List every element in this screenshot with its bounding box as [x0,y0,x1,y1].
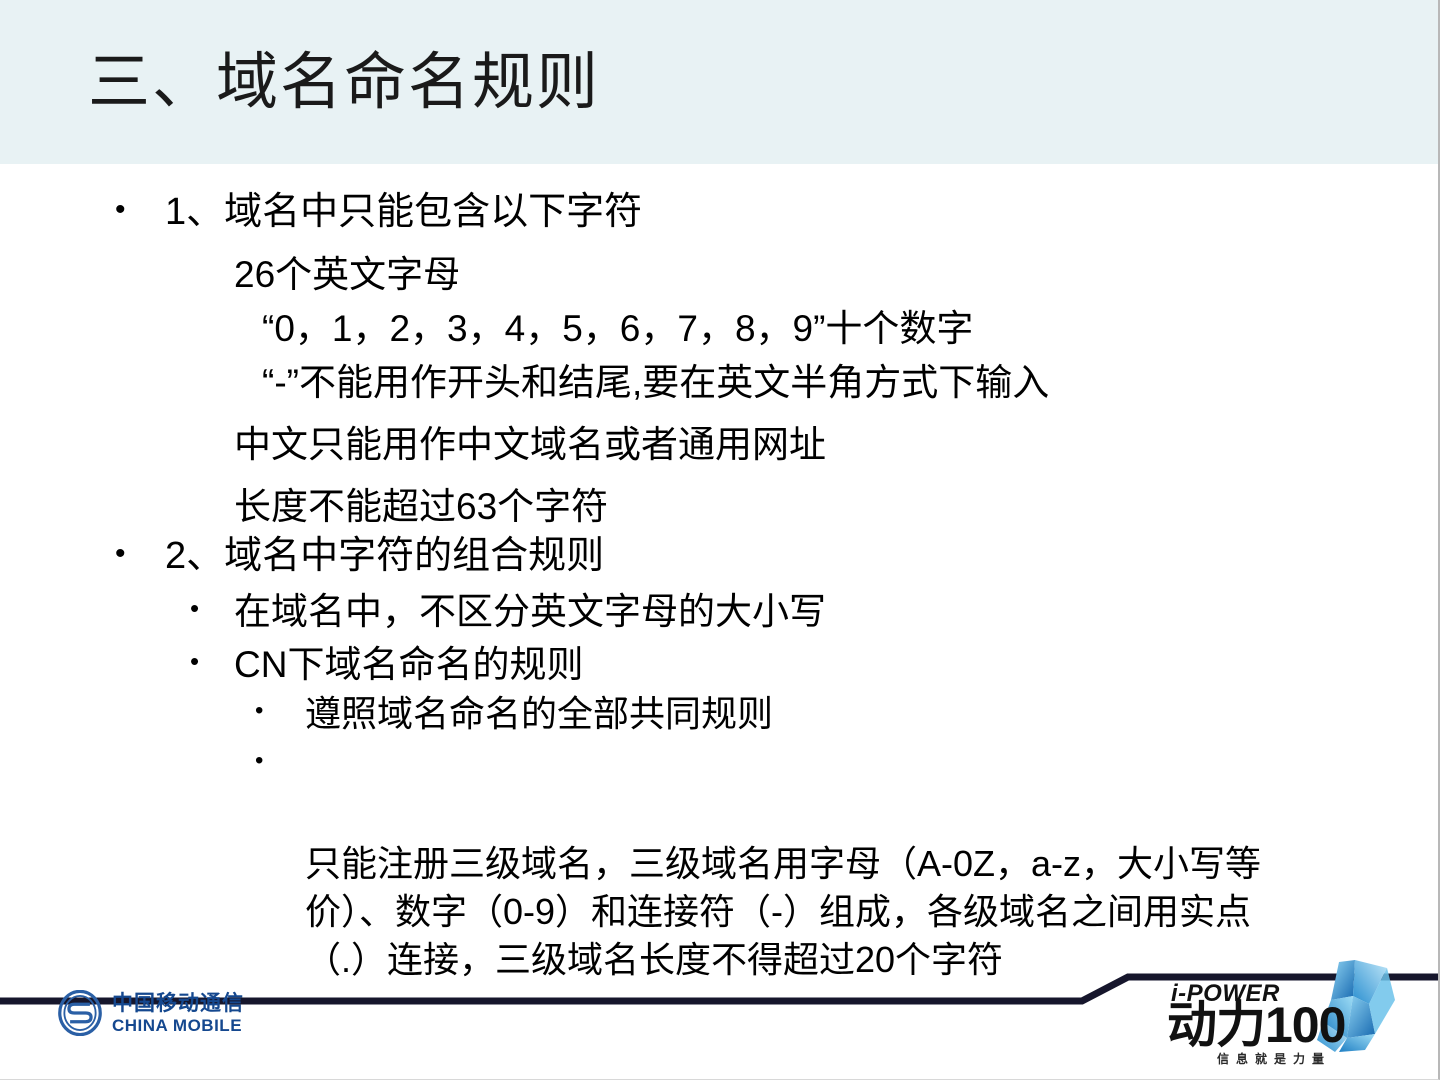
bullet-item-2-sub-2-label: CN下域名命名的规则 [234,644,583,685]
china-mobile-wordmark: 中国移动通信 CHINA MOBILE [112,993,244,1034]
bullet-item-1: • 1、域名中只能包含以下字符 [165,193,642,231]
china-mobile-emblem-icon [57,990,103,1036]
bullet-item-2-sub-sub-1-label: 遵照域名命名的全部共同规则 [305,693,773,734]
bullet-glyph: • [115,195,126,225]
bullet-item-2-sub-1-label: 在域名中，不区分英文字母的大小写 [234,591,826,632]
bullet-glyph: • [255,699,263,723]
china-mobile-en-label: CHINA MOBILE [112,1017,244,1034]
ipower-main-label: 动力100 [1167,1000,1345,1050]
bullet-item-2-sub-sub-2-label: 只能注册三级域名，三级域名用字母（A-0Z，a-z，大小写等价）、数字（0-9）… [305,843,1261,980]
bullet-glyph: • [255,749,263,773]
slide-title: 三、域名命名规则 [88,52,600,114]
sub-line-26-letters: 26个英文字母 [234,256,460,293]
sub-line-hyphen: “-”不能用作开头和结尾,要在英文半角方式下输入 [262,364,1049,401]
sub-line-length: 长度不能超过63个字符 [234,488,608,525]
bullet-item-2-sub-2: • CN下域名命名的规则 [234,646,583,683]
china-mobile-logo: 中国移动通信 CHINA MOBILE [57,990,244,1036]
presentation-slide: 三、域名命名规则 • 1、域名中只能包含以下字符 26个英文字母 “0，1，2，… [0,0,1440,1080]
ipower-logo: i-POWER 动力100 信息就是力量 [1163,972,1413,1072]
bullet-item-1-label: 1、域名中只能包含以下字符 [165,191,642,233]
bullet-item-2-sub-sub-2: • 只能注册三级域名，三级域名用字母（A-0Z，a-z，大小写等价）、数字（0-… [305,744,1290,984]
bullet-item-2-sub-1: • 在域名中，不区分英文字母的大小写 [234,593,826,630]
bullet-item-2-sub-sub-1: • 遵照域名命名的全部共同规则 [305,696,773,732]
bullet-item-2: • 2、域名中字符的组合规则 [165,537,604,575]
bullet-glyph: • [115,539,126,569]
ipower-tagline-label: 信息就是力量 [1217,1050,1331,1067]
china-mobile-cn-label: 中国移动通信 [112,993,244,1014]
bullet-item-2-label: 2、域名中字符的组合规则 [165,535,604,577]
bullet-glyph: • [190,648,199,674]
sub-line-digits: “0，1，2，3，4，5，6，7，8，9”十个数字 [262,310,973,347]
sub-line-chinese: 中文只能用作中文域名或者通用网址 [234,426,826,463]
slide-body: • 1、域名中只能包含以下字符 26个英文字母 “0，1，2，3，4，5，6，7… [0,164,1440,944]
bullet-glyph: • [190,595,199,621]
